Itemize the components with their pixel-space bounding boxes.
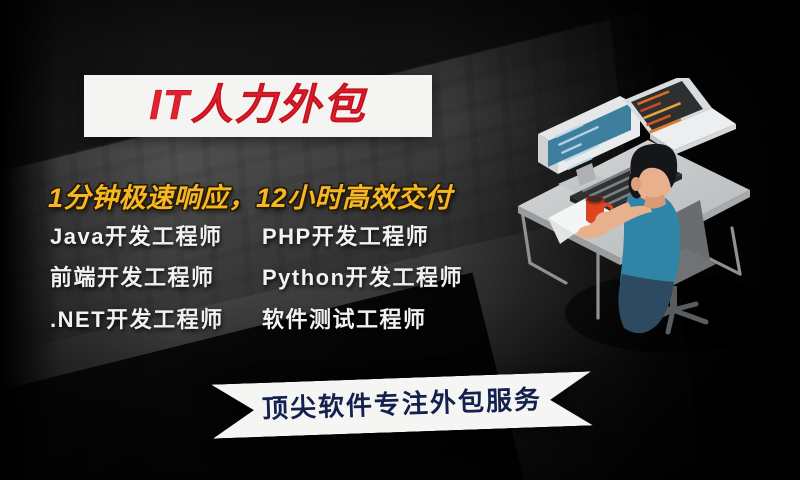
person-ear	[631, 177, 641, 191]
subtitle-text: 1分钟极速响应，12小时高效交付	[48, 176, 452, 215]
poster-banner: IT人力外包 1分钟极速响应，12小时高效交付 Java开发工程师 PHP开发工…	[0, 0, 800, 480]
page-title: IT人力外包	[149, 84, 366, 126]
ribbon-shape: 顶尖软件专注外包服务	[211, 371, 593, 438]
service-item-dotnet: .NET开发工程师	[50, 307, 262, 332]
bottom-ribbon: 顶尖软件专注外包服务	[212, 378, 592, 432]
service-item-php: PHP开发工程师	[262, 224, 463, 249]
service-item-qa-testing: 软件测试工程师	[262, 307, 463, 332]
developer-at-desk-illustration	[500, 78, 800, 363]
service-list: Java开发工程师 PHP开发工程师 前端开发工程师 Python开发工程师 .…	[50, 224, 463, 332]
service-item-frontend: 前端开发工程师	[50, 265, 262, 290]
laptop	[624, 78, 736, 155]
service-item-java: Java开发工程师	[50, 224, 262, 249]
service-item-python: Python开发工程师	[262, 265, 463, 290]
ribbon-label: 顶尖软件专注外包服务	[262, 386, 543, 422]
title-banner: IT人力外包	[84, 75, 432, 137]
